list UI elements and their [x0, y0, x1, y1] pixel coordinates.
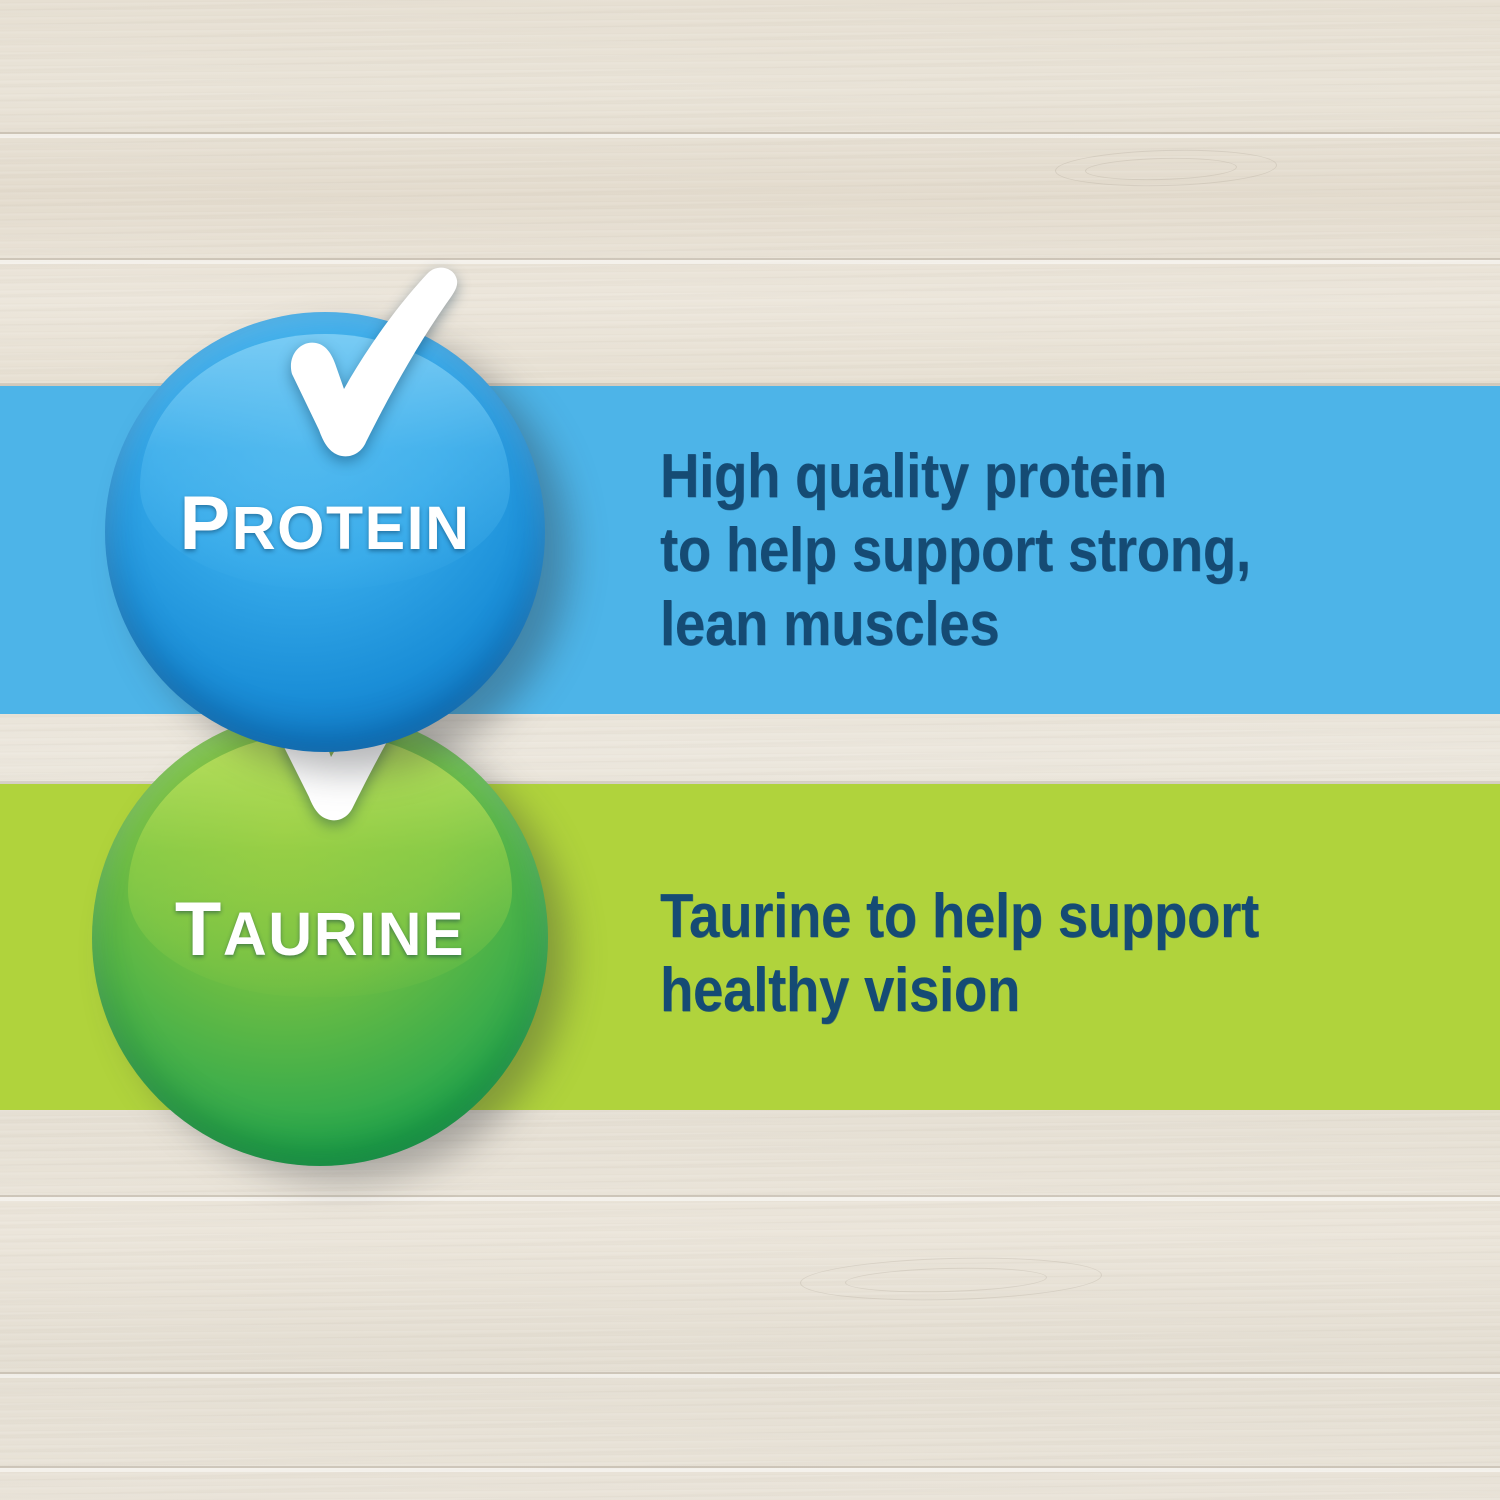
copy-line: lean muscles	[660, 588, 1500, 662]
copy-line: Taurine to help support	[660, 880, 1500, 954]
copy-line: High quality protein	[660, 440, 1500, 514]
protein-label-rest: ROTEIN	[232, 494, 471, 562]
wood-plank-seam	[0, 1466, 1500, 1473]
benefit-copy-protein: High quality protein to help support str…	[660, 440, 1500, 662]
protein-badge-label: PROTEIN	[105, 480, 545, 567]
taurine-label-cap: T	[175, 887, 223, 972]
infographic-canvas: High quality protein to help support str…	[0, 0, 1500, 1500]
wood-plank-seam	[0, 258, 1500, 265]
benefit-copy-taurine: Taurine to help support healthy vision	[660, 880, 1500, 1028]
taurine-badge-label: TAURINE	[92, 886, 548, 973]
copy-line: healthy vision	[660, 954, 1500, 1028]
wood-plank-seam	[0, 132, 1500, 139]
copy-line: to help support strong,	[660, 514, 1500, 588]
wood-plank-seam	[0, 1195, 1500, 1202]
wood-plank-seam	[0, 1372, 1500, 1379]
protein-check-mark-icon	[262, 262, 462, 462]
taurine-label-rest: AURINE	[223, 900, 465, 968]
protein-label-cap: P	[179, 481, 231, 566]
